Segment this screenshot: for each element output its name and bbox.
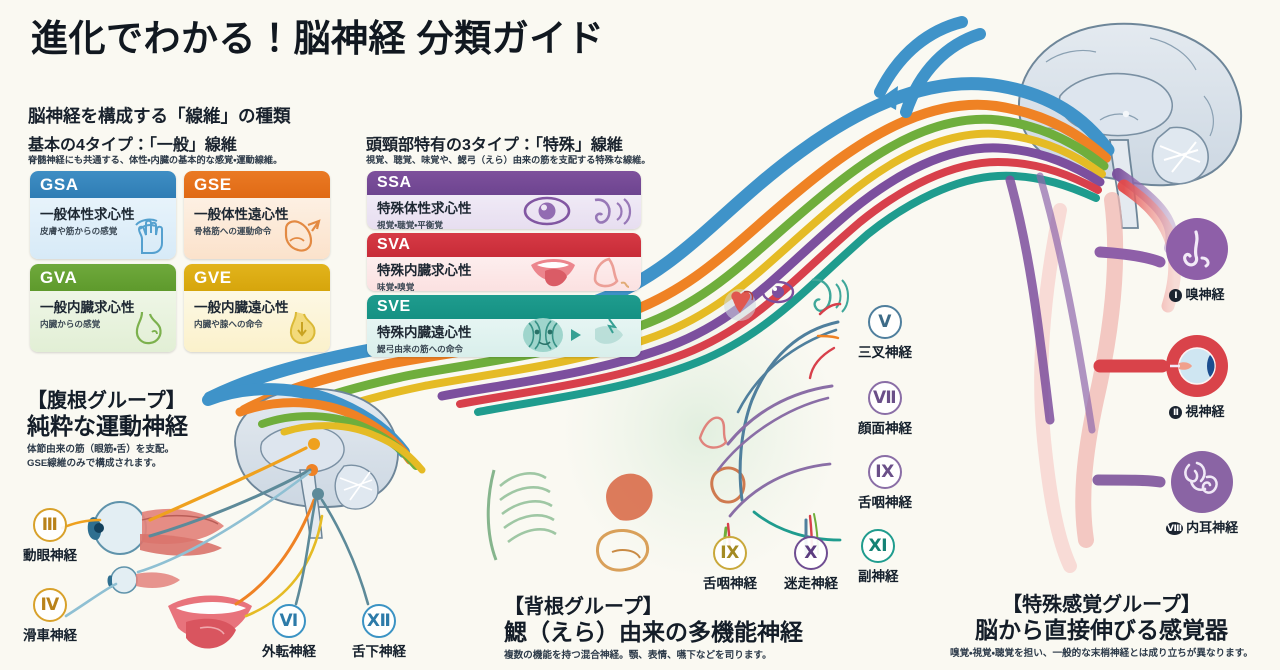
group-ventral-root: 【腹根グループ】 純粋な運動神経 体節由来の筋（眼筋・舌）を支配。 GSE線維の… [27, 390, 188, 471]
sense-organ-olfactory[interactable]: Ⅰ嗅神経 [1166, 218, 1228, 303]
inner-ear-labyrinth-icon [1171, 451, 1233, 513]
fiber-section-heading: 脳神経を構成する「線維」の種類 [28, 103, 291, 128]
hand-touch-icon [126, 215, 170, 255]
nerve-node-hypoglossal[interactable]: Ⅻ 舌下神経 [352, 604, 406, 660]
fiber-code-gve: GVE [184, 264, 330, 291]
nerve-roman-1: Ⅰ [1169, 289, 1182, 302]
branchial-arch-muscle-icon [517, 315, 633, 355]
sense-organ-label-olfactory: Ⅰ嗅神経 [1166, 284, 1228, 303]
group-ventral-title: 純粋な運動神経 [27, 413, 188, 440]
nerve-roman-10: Ⅹ [794, 536, 828, 570]
nerve-label-trochlear: 滑車神経 [23, 624, 77, 644]
nerve-roman-6: Ⅵ [272, 604, 306, 638]
group-ventral-bracket: 【腹根グループ】 [27, 390, 188, 413]
group-special-bracket: 【特殊感覚グループ】 [950, 594, 1253, 617]
nerve-label-glossopharyngeal-lower: 舌咽神経 [703, 572, 757, 592]
nerve-node-trigeminal[interactable]: Ⅴ 三叉神経 [858, 305, 912, 361]
group-dorsal-root: 【背根グループ】 鰓（えら）由来の多機能神経 複数の機能を持つ混合神経。顎、表情… [504, 596, 803, 663]
fiber-code-gse: GSE [184, 171, 330, 198]
stomach-icon [128, 306, 170, 348]
fiber-card-gva[interactable]: GVA 一般内臓求心性 内臓からの感覚 [30, 264, 176, 352]
sense-organ-vestibulocochlear[interactable]: Ⅷ内耳神経 [1166, 451, 1238, 536]
group-special-desc-1: 嗅覚・視覚・聴覚を担い、一般的な末梢神経とは成り立ちが異なります。 [950, 647, 1253, 661]
nerve-label-hypoglossal: 舌下神経 [352, 640, 406, 660]
nerve-node-oculomotor[interactable]: Ⅲ 動眼神経 [23, 508, 77, 564]
vestibulocochlear-disc [1171, 451, 1233, 513]
nerve-label-facial: 顔面神経 [858, 417, 912, 437]
nerve-label-oculomotor: 動眼神経 [23, 544, 77, 564]
nerve-roman-9-upper: Ⅸ [868, 455, 902, 489]
nerve-label-vagus: 迷走神経 [784, 572, 838, 592]
fiber-card-sve[interactable]: SVE 特殊内臓遠心性 鰓弓由来の筋への命令 [367, 295, 641, 357]
group-special-sense: 【特殊感覚グループ】 脳から直接伸びる感覚器 嗅覚・視覚・聴覚を担い、一般的な末… [950, 594, 1253, 661]
nerve-roman-12: Ⅻ [362, 604, 396, 638]
nerve-node-glossopharyngeal-upper[interactable]: Ⅸ 舌咽神経 [858, 455, 912, 511]
nerve-node-trochlear[interactable]: Ⅳ 滑車神経 [23, 588, 77, 644]
group-dorsal-title: 鰓（えら）由来の多機能神経 [504, 619, 803, 646]
general-fiber-note: 脊髄神経にも共通する、体性・内臓の基本的な感覚・運動線維。 [28, 152, 282, 166]
nerve-roman-5: Ⅴ [868, 305, 902, 339]
nerve-node-glossopharyngeal-lower[interactable]: Ⅸ 舌咽神経 [703, 536, 757, 592]
nerve-roman-2: Ⅱ [1169, 406, 1182, 419]
nerve-node-accessory[interactable]: Ⅺ 副神経 [858, 529, 899, 585]
nerve-roman-9-lower: Ⅸ [713, 536, 747, 570]
fiber-card-gsa[interactable]: GSA 一般体性求心性 皮膚や筋からの感覚 [30, 171, 176, 259]
fiber-card-sva[interactable]: SVA 特殊内臓求心性 味覚・嗅覚 [367, 233, 641, 291]
nerve-roman-7: Ⅶ [868, 381, 902, 415]
eyeball-with-extraocular-muscles [88, 502, 224, 593]
nerve-label-accessory: 副神経 [858, 565, 899, 585]
group-dorsal-desc-1: 複数の機能を持つ混合神経。顎、表情、嚥下などを司ります。 [504, 649, 803, 663]
sense-organ-label-optic: Ⅱ視神経 [1166, 401, 1228, 420]
fiber-card-gve[interactable]: GVE 一般内臓遠心性 内臓や腺への命令 [184, 264, 330, 352]
group-ventral-desc-1: 体節由来の筋（眼筋・舌）を支配。 [27, 443, 188, 457]
olfactory-disc [1166, 218, 1228, 280]
fiber-code-gsa: GSA [30, 171, 176, 198]
nerve-node-abducens[interactable]: Ⅵ 外転神経 [262, 604, 316, 660]
brain-midsagittal-lower-left [235, 389, 398, 538]
nerve-roman-11: Ⅺ [861, 529, 895, 563]
main-nerve-bundle [210, 84, 1108, 430]
nerve-roman-4: Ⅳ [33, 588, 67, 622]
nerve-roman-8: Ⅷ [1166, 522, 1183, 535]
group-ventral-desc-2: GSE線維のみで構成されます。 [27, 457, 188, 471]
eyeball-icon [1166, 335, 1228, 397]
fiber-code-ssa: SSA [367, 171, 641, 195]
page-title: 進化でわかる！脳神経 分類ガイド [31, 8, 604, 62]
nerve-node-vagus[interactable]: Ⅹ 迷走神経 [784, 536, 838, 592]
nerve-roman-3: Ⅲ [33, 508, 67, 542]
flexed-arm-muscle-icon [278, 215, 324, 255]
tongue-nose-icon [521, 255, 633, 291]
fiber-card-ssa[interactable]: SSA 特殊体性求心性 視覚・聴覚・平衡覚 [367, 171, 641, 229]
fiber-code-sva: SVA [367, 233, 641, 257]
special-sense-tracts [1010, 174, 1175, 566]
group-dorsal-bracket: 【背根グループ】 [504, 596, 803, 619]
infographic-page: 進化でわかる！脳神経 分類ガイド 脳神経を構成する「線維」の種類 基本の4タイプ… [0, 0, 1280, 670]
special-fiber-note: 視覚、聴覚、味覚や、鰓弓（えら）由来の筋を支配する特殊な線維。 [366, 152, 651, 166]
fiber-code-gva: GVA [30, 264, 176, 291]
sense-organ-label-vestibulocochlear: Ⅷ内耳神経 [1166, 517, 1238, 536]
nerve-label-trigeminal: 三叉神経 [858, 341, 912, 361]
fiber-card-gse[interactable]: GSE 一般体性遠心性 骨格筋への運動命令 [184, 171, 330, 259]
sense-organ-optic[interactable]: Ⅱ視神経 [1166, 335, 1228, 420]
nerve-label-abducens: 外転神経 [262, 640, 316, 660]
nose-icon [1166, 218, 1228, 280]
optic-disc [1166, 335, 1228, 397]
nerve-label-glossopharyngeal-upper: 舌咽神経 [858, 491, 912, 511]
eye-ear-icon [517, 194, 633, 228]
group-special-title: 脳から直接伸びる感覚器 [950, 617, 1253, 644]
nerve-node-facial[interactable]: Ⅶ 顔面神経 [858, 381, 912, 437]
stomach-gland-icon [280, 306, 324, 348]
